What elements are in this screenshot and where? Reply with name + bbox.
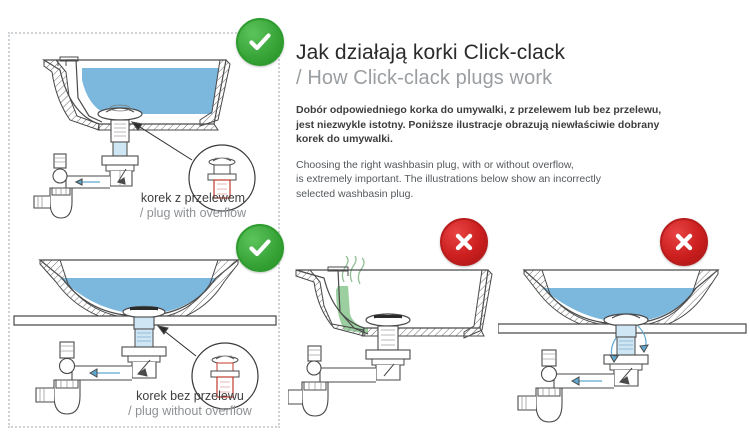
paragraph-pl-line-2: jest niezwykle istotny. Poniższe ilustra… bbox=[296, 118, 716, 133]
status-badge-check-1 bbox=[236, 18, 284, 66]
caption-en-1: / plug with overflow bbox=[103, 206, 283, 221]
caption-plug-without-overflow: korek bez przelewu / plug without overfl… bbox=[100, 389, 280, 419]
paragraph-en-line-1: Choosing the right washbasin plug, with … bbox=[296, 158, 716, 173]
paragraph-pl-line-3: korek do umywalki. bbox=[296, 132, 716, 147]
paragraph-pl-line-1: Dobór odpowiedniego korka do umywalki, z… bbox=[296, 103, 716, 118]
page-title-en: / How Click-clack plugs work bbox=[296, 66, 716, 91]
caption-pl-1: korek z przelewem bbox=[103, 191, 283, 206]
check-icon bbox=[246, 234, 274, 262]
status-badge-cross-1 bbox=[440, 218, 488, 266]
page-title-pl: Jak działają korki Click-clack bbox=[296, 40, 716, 65]
paragraph-english: Choosing the right washbasin plug, with … bbox=[296, 158, 716, 202]
status-badge-check-2 bbox=[236, 224, 284, 272]
status-badge-cross-2 bbox=[660, 218, 708, 266]
paragraph-polish: Dobór odpowiedniego korka do umywalki, z… bbox=[296, 103, 716, 147]
caption-plug-with-overflow: korek z przelewem / plug with overflow bbox=[103, 191, 283, 221]
diagram-washbasin-with-overflow-wrong bbox=[288, 256, 498, 436]
paragraph-en-line-3: selected washbasin plug. bbox=[296, 187, 716, 202]
close-icon bbox=[451, 229, 477, 255]
check-icon bbox=[246, 28, 274, 56]
caption-en-2: / plug without overflow bbox=[100, 404, 280, 419]
diagram-washbasin-without-overflow-wrong bbox=[498, 256, 750, 436]
paragraph-en-line-2: is extremely important. The illustration… bbox=[296, 172, 716, 187]
text-block: Jak działają korki Click-clack / How Cli… bbox=[296, 40, 716, 201]
infographic-root: korek z przelewem / plug with overflow k… bbox=[0, 0, 750, 445]
close-icon bbox=[671, 229, 697, 255]
caption-pl-2: korek bez przelewu bbox=[100, 389, 280, 404]
